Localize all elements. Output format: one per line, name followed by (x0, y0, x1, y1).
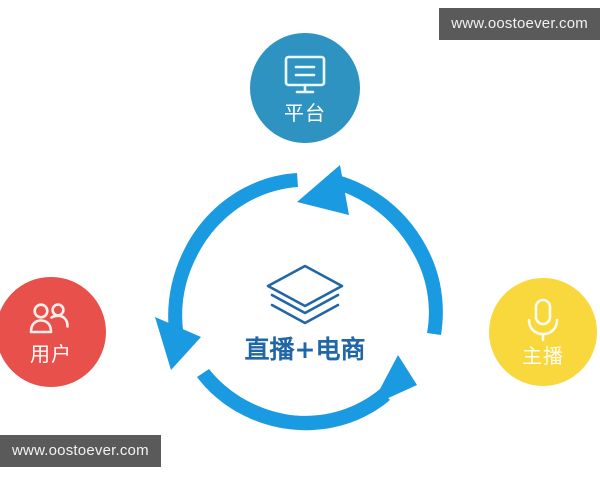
node-anchor-label: 主播 (522, 346, 564, 366)
watermark-top: www.oostoever.com (439, 8, 600, 40)
monitor-icon (282, 54, 328, 96)
center-label: 直播+电商 (245, 337, 366, 362)
watermark-bottom: www.oostoever.com (0, 435, 161, 467)
arrowhead-top (297, 165, 349, 215)
microphone-icon (524, 298, 562, 342)
arrow-segment-bottom (197, 369, 390, 430)
arrowhead-bottom-right (371, 355, 417, 406)
users-icon (27, 300, 75, 340)
diagram-canvas: 直播+电商 平台 用户 (0, 0, 600, 480)
node-anchor[interactable]: 主播 (489, 278, 597, 386)
layers-icon (262, 262, 348, 333)
node-platform[interactable]: 平台 (250, 33, 360, 143)
node-user-label: 用户 (30, 344, 72, 364)
node-platform-label: 平台 (284, 103, 326, 123)
center-block: 直播+电商 (215, 262, 395, 362)
node-user[interactable]: 用户 (0, 277, 106, 387)
